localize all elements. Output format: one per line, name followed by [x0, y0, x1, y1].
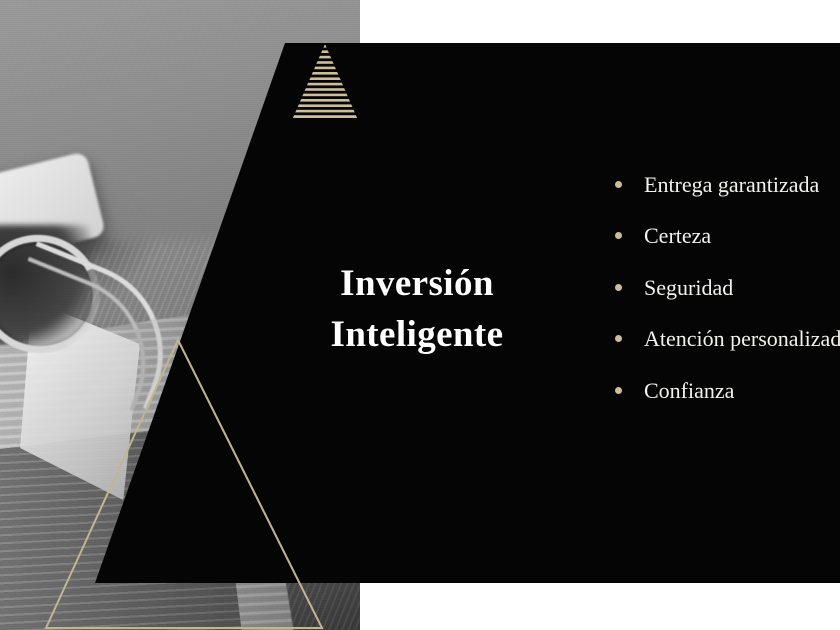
list-item-label: Atención personalizada	[644, 326, 840, 351]
list-item: Confianza	[612, 378, 840, 404]
list-item-label: Certeza	[644, 223, 711, 248]
list-item: Seguridad	[612, 275, 840, 301]
bullet-dot-icon	[615, 387, 622, 394]
slide-canvas: Inversión Inteligente Entrega garantizad…	[0, 0, 840, 630]
list-item: Certeza	[612, 223, 840, 249]
benefits-list: Entrega garantizada Certeza Seguridad At…	[612, 172, 840, 404]
list-item-label: Confianza	[644, 378, 734, 403]
pyramid-logo-icon	[292, 44, 358, 120]
list-item: Entrega garantizada	[612, 172, 840, 198]
bullet-dot-icon	[615, 232, 622, 239]
bullet-dot-icon	[615, 181, 622, 188]
bullet-dot-icon	[615, 335, 622, 342]
list-item-label: Entrega garantizada	[644, 172, 819, 197]
bullet-dot-icon	[615, 284, 622, 291]
list-item: Atención personalizada	[612, 326, 840, 352]
page-title: Inversión Inteligente	[252, 258, 582, 360]
list-item-label: Seguridad	[644, 275, 733, 300]
